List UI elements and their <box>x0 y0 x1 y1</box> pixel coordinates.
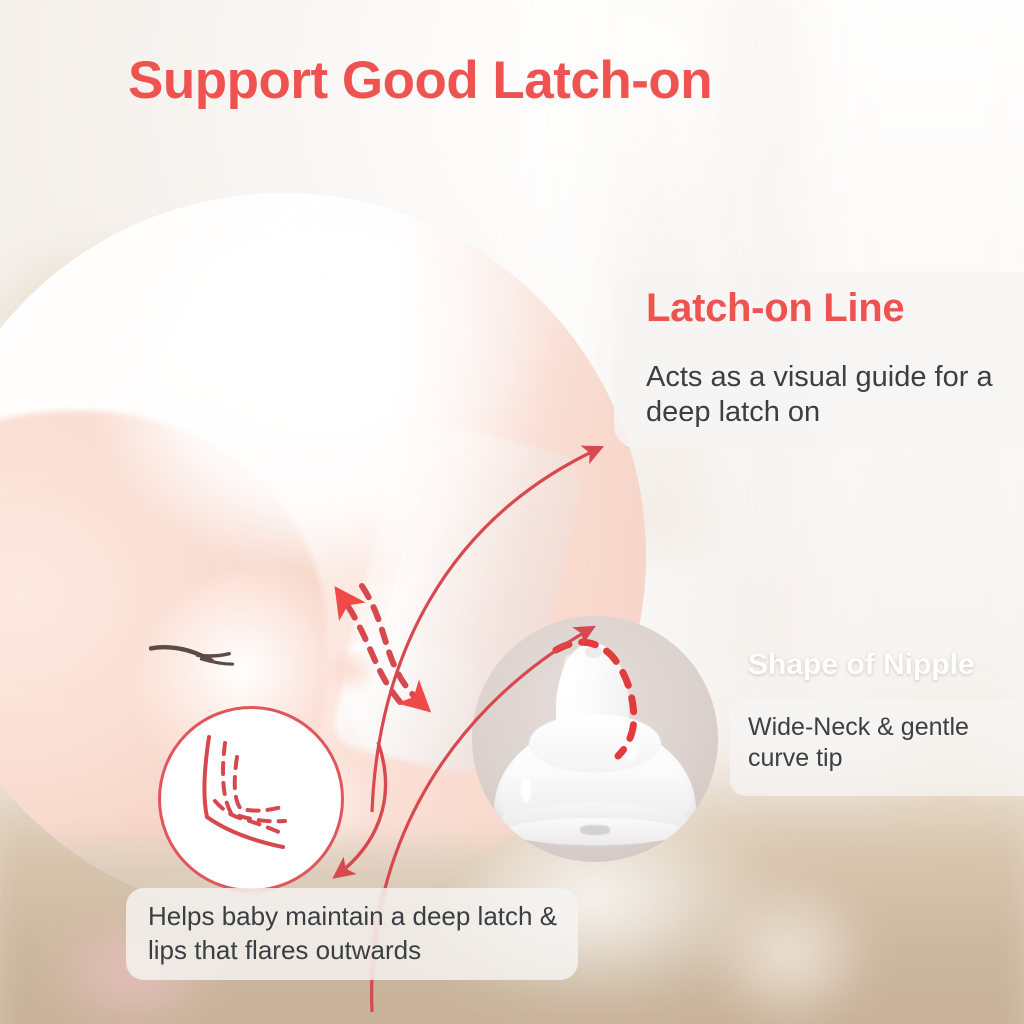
baby-nose <box>327 650 385 701</box>
lip-flare-caption: Helps baby maintain a deep latch & lips … <box>148 900 568 968</box>
page-title: Support Good Latch-on <box>128 50 712 111</box>
lip-flare-diagram-icon <box>161 709 341 889</box>
nipple-dashed-outline-icon <box>472 616 718 862</box>
lip-flare-diagram-circle <box>158 706 344 892</box>
infographic-canvas: Support Good Latch-on Latch-on Line Acts… <box>0 0 1024 1024</box>
latch-on-line-heading: Latch-on Line <box>646 286 904 331</box>
latch-on-line-body: Acts as a visual guide for a deep latch … <box>646 360 1006 431</box>
shape-of-nipple-body: Wide-Neck & gentle curve tip <box>748 712 1010 774</box>
shape-of-nipple-heading: Shape of Nipple <box>748 648 975 682</box>
nipple-photo-circle <box>472 616 718 862</box>
baby-eyelash-icon <box>149 639 236 675</box>
background-blur-blob-bottom <box>676 860 901 1024</box>
